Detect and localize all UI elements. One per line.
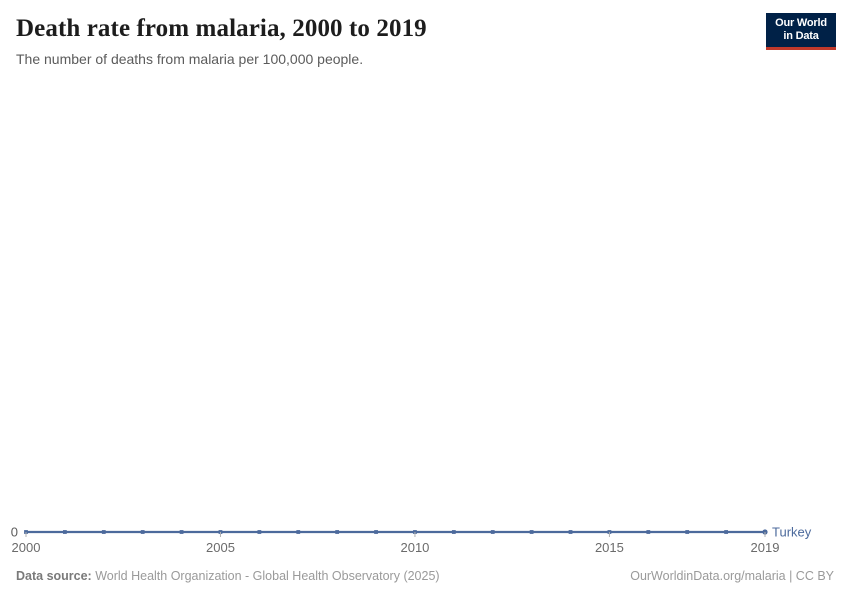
x-axis: 20002005201020152019 <box>12 532 780 552</box>
chart-footer: Data source: World Health Organization -… <box>0 569 850 587</box>
footer-source-label: Data source: <box>16 569 92 583</box>
chart-header: Death rate from malaria, 2000 to 2019 Th… <box>16 14 756 68</box>
footer-data-source: Data source: World Health Organization -… <box>16 569 440 583</box>
page-title: Death rate from malaria, 2000 to 2019 <box>16 14 756 44</box>
x-axis-tick-label: 2010 <box>400 540 429 552</box>
owid-logo-line-1: Our World <box>766 17 836 30</box>
owid-logo-line-2: in Data <box>766 30 836 43</box>
series-label-turkey[interactable]: Turkey <box>772 525 812 540</box>
x-axis-tick-label: 2000 <box>12 540 41 552</box>
x-axis-tick-label: 2015 <box>595 540 624 552</box>
series-end-label[interactable]: Turkey <box>772 525 812 540</box>
series-turkey[interactable] <box>24 529 768 534</box>
footer-license[interactable]: OurWorldinData.org/malaria | CC BY <box>630 569 834 583</box>
x-axis-tick-label: 2019 <box>751 540 780 552</box>
y-axis-tick-label: 0 <box>11 525 18 540</box>
y-axis: 0 <box>11 525 18 540</box>
chart-subtitle: The number of deaths from malaria per 10… <box>16 50 756 68</box>
line-chart-svg: 20002005201020152019 0 Turkey <box>0 82 850 552</box>
footer-source-text: World Health Organization - Global Healt… <box>92 569 440 583</box>
owid-logo[interactable]: Our World in Data <box>766 13 836 50</box>
x-axis-tick-label: 2005 <box>206 540 235 552</box>
chart-plot-area: 20002005201020152019 0 Turkey <box>0 82 850 552</box>
